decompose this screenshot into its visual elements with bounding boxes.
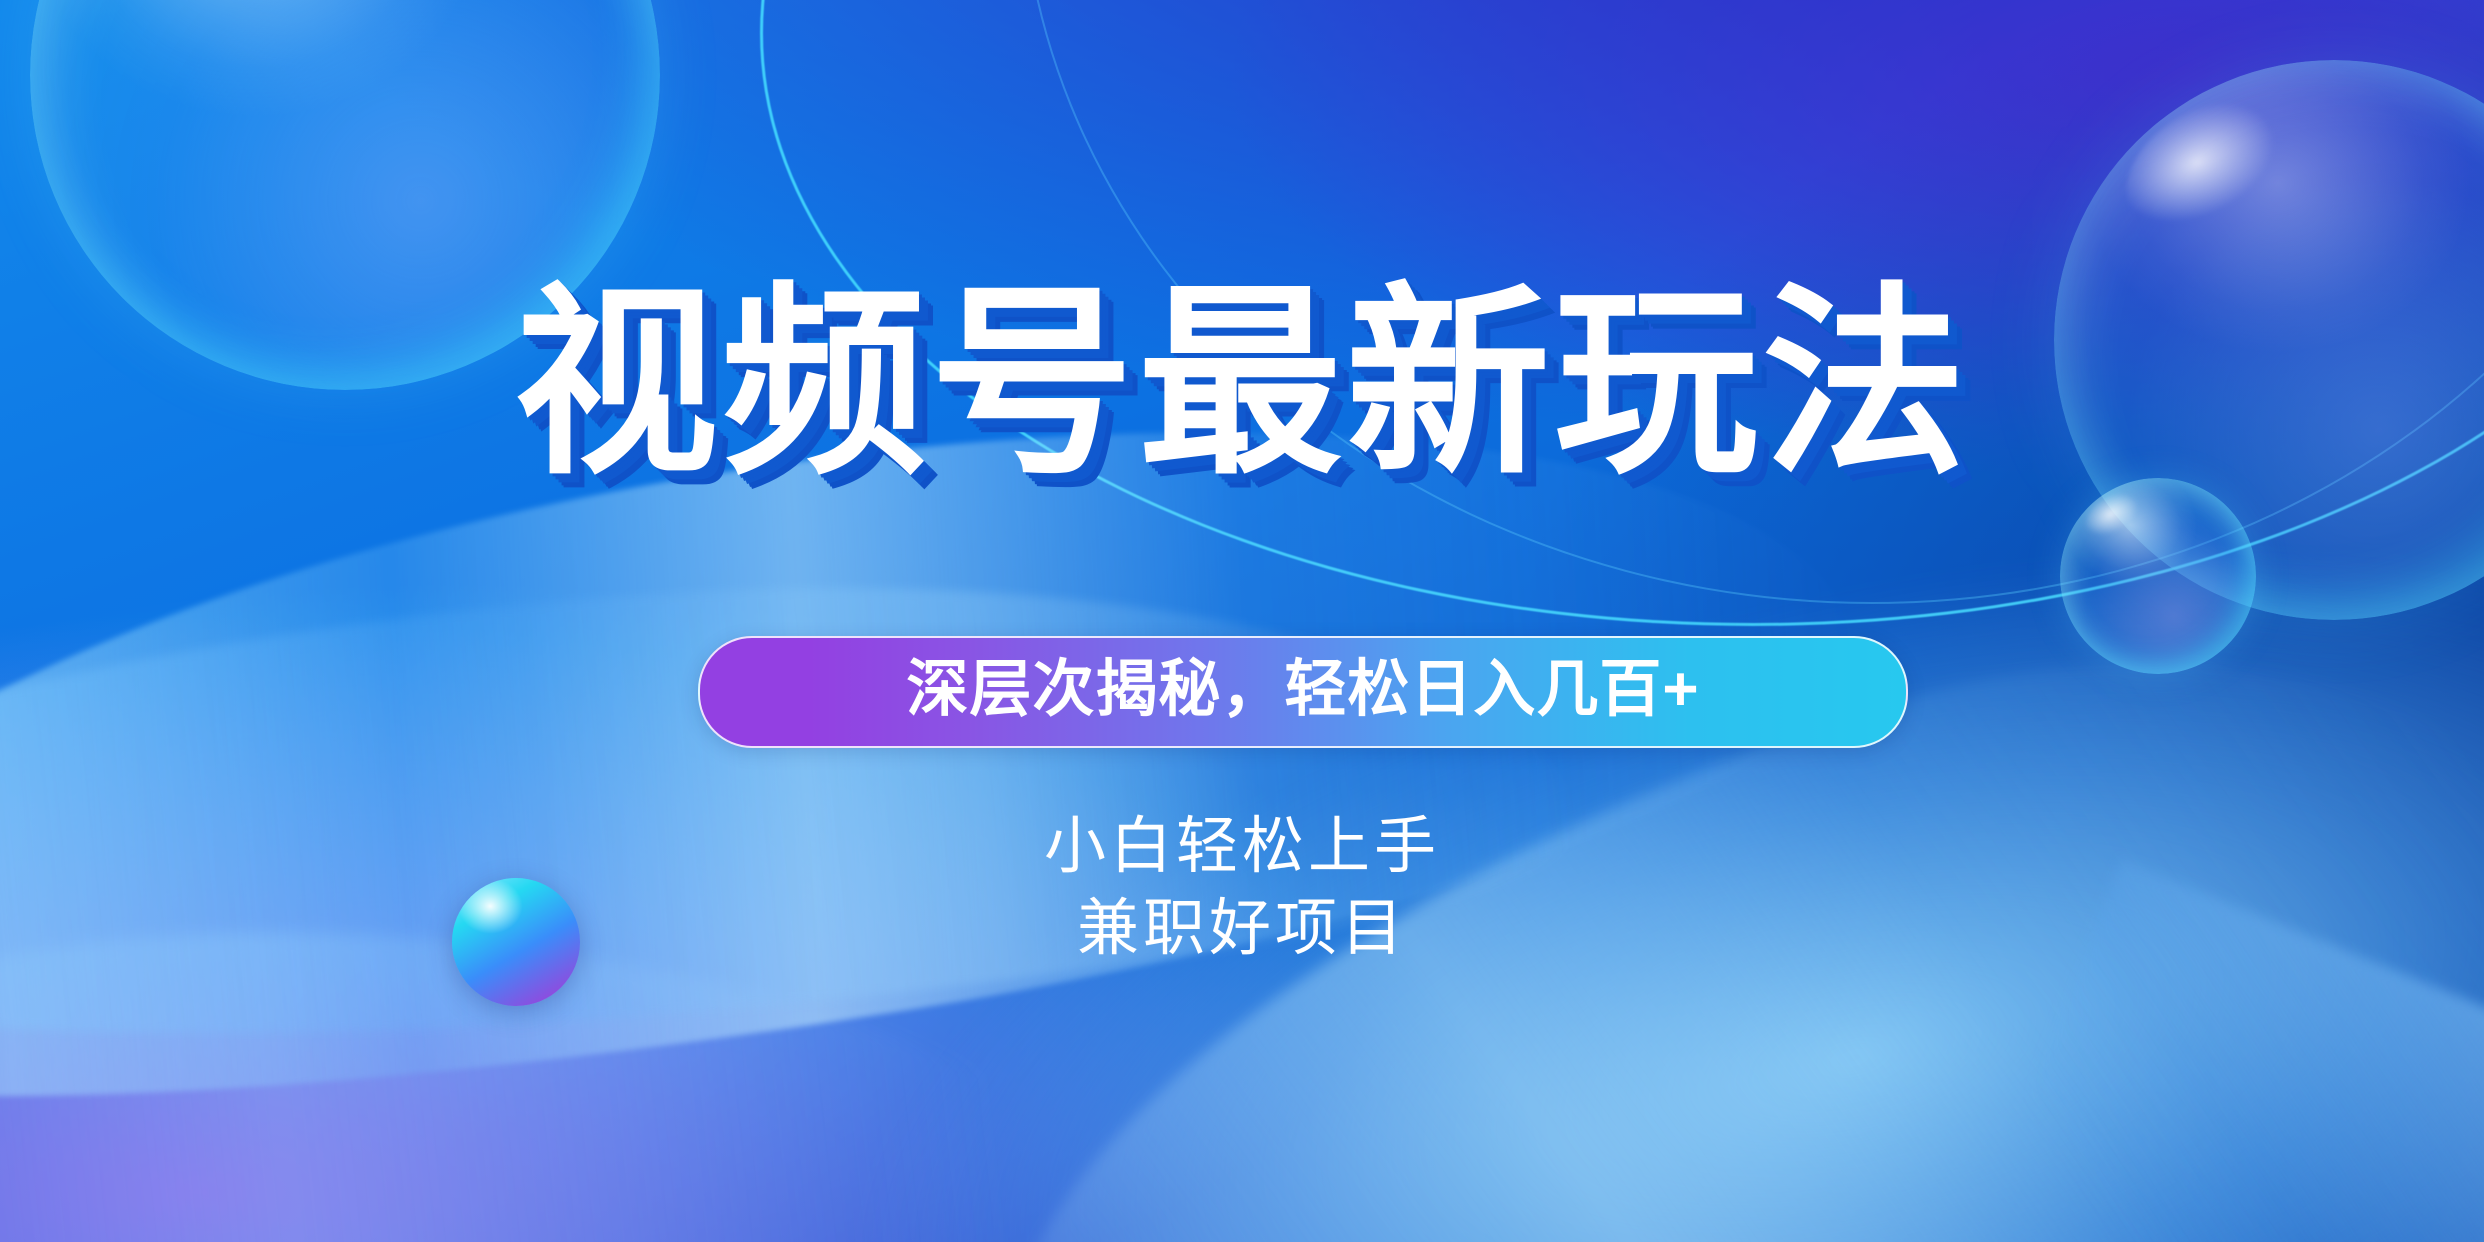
highlight-badge: 深层次揭秘，轻松日入几百+ — [698, 636, 1908, 748]
tagline-block: 小白轻松上手 兼职好项目 — [0, 806, 2484, 970]
tagline-line-1: 小白轻松上手 — [0, 806, 2484, 888]
highlight-badge-label: 深层次揭秘，轻松日入几百+ — [906, 659, 1699, 721]
promo-poster: 视频号最新玩法 深层次揭秘，轻松日入几百+ 小白轻松上手 兼职好项目 — [0, 0, 2484, 1242]
poster-content: 视频号最新玩法 深层次揭秘，轻松日入几百+ 小白轻松上手 兼职好项目 — [0, 0, 2484, 1242]
tagline-line-2: 兼职好项目 — [0, 888, 2484, 970]
poster-title: 视频号最新玩法 — [0, 272, 2484, 496]
